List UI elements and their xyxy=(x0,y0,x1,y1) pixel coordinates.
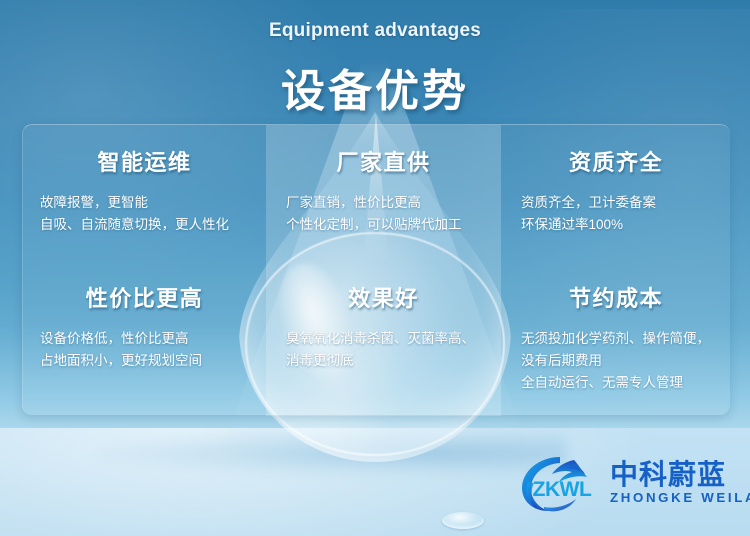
feature-line: 设备价格低，性价比更高 xyxy=(40,328,252,350)
feature-card-cost-saving[interactable]: 节约成本 无须投加化学药剂、操作简便， 没有后期费用 全自动运行、无需专人管理 xyxy=(501,264,731,416)
feature-card-smart-om[interactable]: 智能运维 故障报警，更智能 自吸、自流随意切换，更人性化 xyxy=(23,125,266,264)
brand-name-en: ZHONGKE WEILAN xyxy=(610,490,750,506)
feature-line: 没有后期费用 xyxy=(521,350,717,372)
feature-card-cost-performance[interactable]: 性价比更高 设备价格低，性价比更高 占地面积小，更好规划空间 xyxy=(23,264,266,416)
feature-line: 故障报警，更智能 xyxy=(40,192,252,214)
feature-card-qualifications[interactable]: 资质齐全 资质齐全，卫计委备案 环保通过率100% xyxy=(501,125,731,264)
features-panel: 智能运维 故障报警，更智能 自吸、自流随意切换，更人性化 厂家直供 厂家直销，性… xyxy=(22,124,730,415)
feature-line: 自吸、自流随意切换，更人性化 xyxy=(40,214,252,236)
feature-line: 个性化定制，可以贴牌代加工 xyxy=(286,214,487,236)
feature-body: 故障报警，更智能 自吸、自流随意切换，更人性化 xyxy=(37,192,252,236)
feature-body: 无须投加化学药剂、操作简便， 没有后期费用 全自动运行、无需专人管理 xyxy=(515,328,717,394)
feature-body: 厂家直销，性价比更高 个性化定制，可以贴牌代加工 xyxy=(280,192,487,236)
feature-line: 消毒更彻底 xyxy=(286,350,487,372)
droplet-shadow xyxy=(96,430,566,476)
feature-card-effectiveness[interactable]: 效果好 臭氧氧化消毒杀菌、灭菌率高、 消毒更彻底 xyxy=(266,264,501,416)
feature-body: 资质齐全，卫计委备案 环保通过率100% xyxy=(515,192,717,236)
zkwl-emblem-icon: ZKWL xyxy=(516,452,608,514)
svg-text:ZKWL: ZKWL xyxy=(533,478,592,501)
brand-wordmark: 中科蔚蓝 ZHONGKE WEILAN xyxy=(610,460,750,506)
brand-name-cn: 中科蔚蓝 xyxy=(610,460,750,490)
feature-line: 占地面积小，更好规划空间 xyxy=(40,350,252,372)
page-subtitle-en: Equipment advantages xyxy=(0,20,750,42)
feature-title: 效果好 xyxy=(280,281,487,313)
feature-title: 节约成本 xyxy=(515,281,717,313)
brand-logo[interactable]: ZKWL 中科蔚蓝 ZHONGKE WEILAN xyxy=(516,452,734,514)
feature-title: 资质齐全 xyxy=(515,145,717,177)
feature-line: 资质齐全，卫计委备案 xyxy=(521,192,717,214)
features-grid: 智能运维 故障报警，更智能 自吸、自流随意切换，更人性化 厂家直供 厂家直销，性… xyxy=(23,125,730,415)
feature-title: 性价比更高 xyxy=(37,281,252,313)
feature-card-factory-direct[interactable]: 厂家直供 厂家直销，性价比更高 个性化定制，可以贴牌代加工 xyxy=(266,125,501,264)
page-title: 设备优势 xyxy=(0,55,750,119)
feature-body: 设备价格低，性价比更高 占地面积小，更好规划空间 xyxy=(37,328,252,372)
feature-line: 环保通过率100% xyxy=(521,214,717,236)
poster-canvas: Equipment advantages 设备优势 智能运维 故障报警，更智能 … xyxy=(0,0,750,536)
feature-line: 厂家直销，性价比更高 xyxy=(286,192,487,214)
feature-title: 智能运维 xyxy=(37,145,252,177)
small-droplet-icon xyxy=(442,512,484,529)
feature-line: 全自动运行、无需专人管理 xyxy=(521,372,717,394)
feature-body: 臭氧氧化消毒杀菌、灭菌率高、 消毒更彻底 xyxy=(280,328,487,372)
feature-title: 厂家直供 xyxy=(280,145,487,177)
feature-line: 臭氧氧化消毒杀菌、灭菌率高、 xyxy=(286,328,487,350)
feature-line: 无须投加化学药剂、操作简便， xyxy=(521,328,717,350)
